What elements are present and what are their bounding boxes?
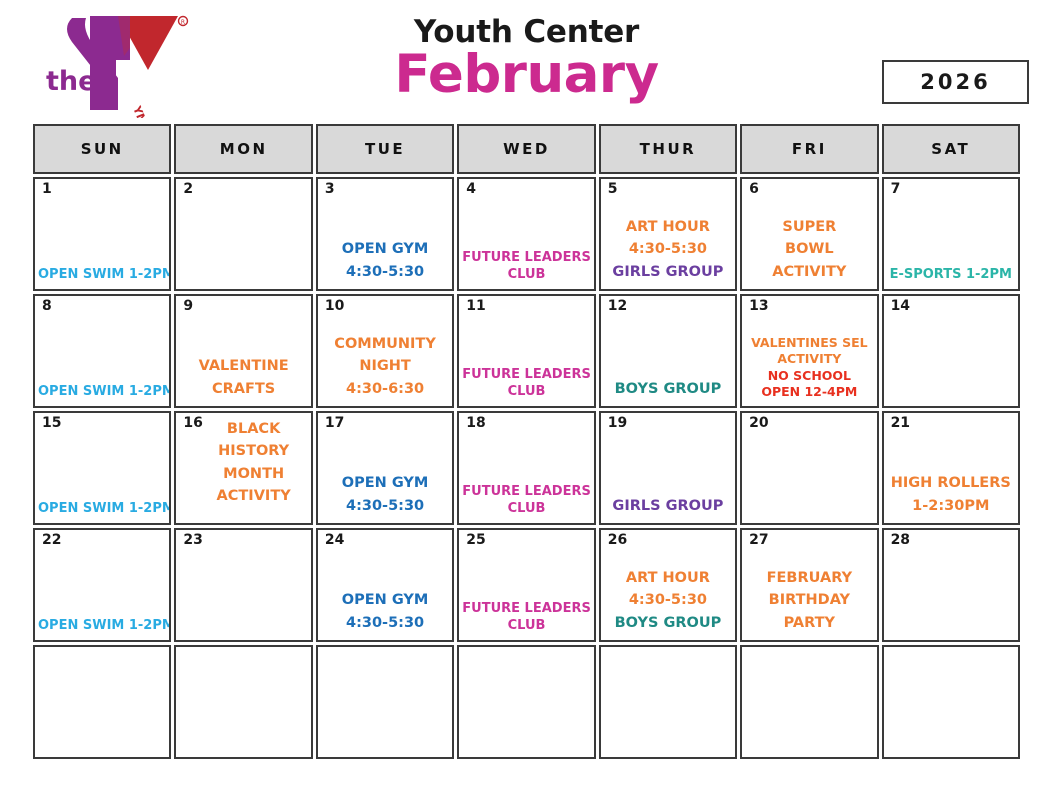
day-number: 20	[749, 416, 768, 431]
event-line[interactable]: OPEN SWIM 1-2PM	[38, 617, 166, 634]
event-line[interactable]: FUTURE LEADERS	[462, 600, 590, 617]
day-cell-14[interactable]: 14	[882, 294, 1020, 408]
event-line[interactable]: BIRTHDAY	[745, 589, 873, 611]
event-line[interactable]: HIGH ROLLERS	[887, 472, 1015, 494]
day-header-sun: SUN	[33, 124, 171, 174]
day-events: OPEN GYM4:30-5:30	[321, 589, 449, 635]
event-line[interactable]: 4:30-5:30	[321, 495, 449, 517]
ymca-logo: R the YMCA	[38, 8, 198, 118]
day-events: OPEN GYM4:30-5:30	[321, 472, 449, 518]
event-line[interactable]: OPEN GYM	[321, 238, 449, 260]
event-line[interactable]: SUPER	[745, 216, 873, 238]
day-cell-1[interactable]: 1OPEN SWIM 1-2PM	[33, 177, 171, 291]
day-header-label: THUR	[640, 140, 697, 158]
event-line[interactable]: VALENTINES SEL	[745, 335, 873, 351]
day-number: 10	[325, 299, 344, 314]
event-line[interactable]: ACTIVITY	[745, 351, 873, 367]
day-cell-20[interactable]: 20	[740, 411, 878, 525]
logo-the-text: the	[46, 66, 96, 97]
day-events: FUTURE LEADERSCLUB	[462, 249, 590, 284]
event-line[interactable]: OPEN SWIM 1-2PM	[38, 266, 166, 283]
day-number: 26	[608, 533, 627, 548]
event-line[interactable]: MONTH	[199, 463, 307, 485]
day-cell-24[interactable]: 24OPEN GYM4:30-5:30	[316, 528, 454, 642]
day-events	[179, 634, 307, 635]
day-number: 11	[466, 299, 485, 314]
day-header-label: WED	[503, 140, 550, 158]
day-number: 6	[749, 182, 759, 197]
ymca-logo-svg: R the YMCA	[38, 8, 198, 118]
calendar-week-row: 15OPEN SWIM 1-2PM16BLACKHISTORYMONTHACTI…	[33, 411, 1020, 525]
day-events: E-SPORTS 1-2PM	[887, 266, 1015, 284]
day-number: 8	[42, 299, 52, 314]
year-box: 2026	[882, 60, 1029, 104]
day-cell-7[interactable]: 7E-SPORTS 1-2PM	[882, 177, 1020, 291]
day-number: 13	[749, 299, 768, 314]
event-line[interactable]: BOWL	[745, 238, 873, 260]
day-cell-25[interactable]: 25FUTURE LEADERSCLUB	[457, 528, 595, 642]
day-cell-23[interactable]: 23	[174, 528, 312, 642]
event-line[interactable]: HISTORY	[199, 440, 307, 462]
event-line[interactable]: CRAFTS	[179, 378, 307, 400]
day-of-week-header-row: SUNMONTUEWEDTHURFRISAT	[33, 124, 1020, 174]
day-cell-13[interactable]: 13VALENTINES SELACTIVITYNO SCHOOLOPEN 12…	[740, 294, 878, 408]
day-header-label: TUE	[365, 140, 405, 158]
day-events	[887, 400, 1015, 401]
calendar-week-row: 8OPEN SWIM 1-2PM9VALENTINECRAFTS10COMMUN…	[33, 294, 1020, 408]
event-line[interactable]: CLUB	[462, 266, 590, 283]
day-cell-19[interactable]: 19GIRLS GROUP	[599, 411, 737, 525]
day-events: OPEN SWIM 1-2PM	[38, 383, 166, 401]
day-cell-5[interactable]: 5ART HOUR4:30-5:30GIRLS GROUP	[599, 177, 737, 291]
event-line[interactable]: FUTURE LEADERS	[462, 366, 590, 383]
event-line[interactable]: COMMUNITY	[321, 333, 449, 355]
day-events: FUTURE LEADERSCLUB	[462, 600, 590, 635]
year-label: 2026	[920, 70, 990, 94]
day-events: ART HOUR4:30-5:30BOYS GROUP	[604, 567, 732, 635]
day-header-label: SAT	[931, 140, 970, 158]
day-cell-18[interactable]: 18FUTURE LEADERSCLUB	[457, 411, 595, 525]
day-cell-22[interactable]: 22OPEN SWIM 1-2PM	[33, 528, 171, 642]
day-cell-6[interactable]: 6SUPERBOWLACTIVITY	[740, 177, 878, 291]
event-line[interactable]: FEBRUARY	[745, 567, 873, 589]
day-number: 7	[891, 182, 901, 197]
day-number: 19	[608, 416, 627, 431]
day-cell-17[interactable]: 17OPEN GYM4:30-5:30	[316, 411, 454, 525]
day-events: VALENTINES SELACTIVITYNO SCHOOLOPEN 12-4…	[745, 335, 873, 401]
day-cell-empty[interactable]	[882, 645, 1020, 759]
day-events: GIRLS GROUP	[604, 495, 732, 518]
event-line[interactable]: FUTURE LEADERS	[462, 249, 590, 266]
day-number: 22	[42, 533, 61, 548]
day-cell-2[interactable]: 2	[174, 177, 312, 291]
day-events: OPEN SWIM 1-2PM	[38, 500, 166, 518]
day-number: 3	[325, 182, 335, 197]
day-cell-empty[interactable]	[316, 645, 454, 759]
calendar-week-row: 1OPEN SWIM 1-2PM23OPEN GYM4:30-5:304FUTU…	[33, 177, 1020, 291]
calendar-week-row: 22OPEN SWIM 1-2PM2324OPEN GYM4:30-5:3025…	[33, 528, 1020, 642]
day-header-label: FRI	[792, 140, 827, 158]
day-number: 4	[466, 182, 476, 197]
event-line[interactable]: NIGHT	[321, 355, 449, 377]
day-number: 14	[891, 299, 910, 314]
day-header-thur: THUR	[599, 124, 737, 174]
day-cell-28[interactable]: 28	[882, 528, 1020, 642]
day-cell-empty[interactable]	[740, 645, 878, 759]
day-cell-empty[interactable]	[33, 645, 171, 759]
day-events	[321, 751, 449, 752]
day-cell-16[interactable]: 16BLACKHISTORYMONTHACTIVITY	[174, 411, 312, 525]
day-events	[462, 751, 590, 752]
event-line[interactable]: 4:30-5:30	[604, 238, 732, 260]
day-events	[887, 634, 1015, 635]
day-number: 23	[183, 533, 202, 548]
calendar-page: R the YMCA Youth Center February 2026 SU…	[0, 0, 1053, 812]
day-number: 18	[466, 416, 485, 431]
day-cell-empty[interactable]	[457, 645, 595, 759]
event-line[interactable]: 4:30-5:30	[604, 589, 732, 611]
day-header-mon: MON	[174, 124, 312, 174]
day-events	[604, 751, 732, 752]
svg-text:R: R	[181, 19, 185, 26]
event-line[interactable]: 4:30-6:30	[321, 378, 449, 400]
day-events	[38, 751, 166, 752]
event-line[interactable]: ART HOUR	[604, 567, 732, 589]
event-line[interactable]: OPEN 12-4PM	[745, 384, 873, 400]
day-number: 24	[325, 533, 344, 548]
event-line[interactable]: CLUB	[462, 500, 590, 517]
event-line[interactable]: BLACK	[199, 418, 307, 440]
day-cell-10[interactable]: 10COMMUNITYNIGHT4:30-6:30	[316, 294, 454, 408]
day-cell-3[interactable]: 3OPEN GYM4:30-5:30	[316, 177, 454, 291]
day-events: OPEN GYM4:30-5:30	[321, 238, 449, 284]
day-cell-27[interactable]: 27FEBRUARYBIRTHDAYPARTY	[740, 528, 878, 642]
day-cell-11[interactable]: 11FUTURE LEADERSCLUB	[457, 294, 595, 408]
event-line[interactable]: PARTY	[745, 612, 873, 634]
event-line[interactable]: VALENTINE	[179, 355, 307, 377]
day-header-wed: WED	[457, 124, 595, 174]
day-cell-15[interactable]: 15OPEN SWIM 1-2PM	[33, 411, 171, 525]
day-number: 21	[891, 416, 910, 431]
day-number: 27	[749, 533, 768, 548]
event-line[interactable]: E-SPORTS 1-2PM	[887, 266, 1015, 283]
day-events: ART HOUR4:30-5:30GIRLS GROUP	[604, 216, 732, 284]
event-line[interactable]: NO SCHOOL	[745, 368, 873, 384]
event-line[interactable]: 1-2:30PM	[887, 495, 1015, 517]
day-cell-12[interactable]: 12BOYS GROUP	[599, 294, 737, 408]
calendar-grid: SUNMONTUEWEDTHURFRISAT 1OPEN SWIM 1-2PM2…	[33, 124, 1020, 762]
event-line[interactable]: GIRLS GROUP	[604, 261, 732, 283]
day-number: 16	[183, 416, 202, 431]
event-line[interactable]: BOYS GROUP	[604, 612, 732, 634]
day-number: 1	[42, 182, 52, 197]
day-cell-21[interactable]: 21HIGH ROLLERS1-2:30PM	[882, 411, 1020, 525]
event-line[interactable]: ACTIVITY	[199, 485, 307, 507]
day-events	[179, 751, 307, 752]
calendar-weeks: 1OPEN SWIM 1-2PM23OPEN GYM4:30-5:304FUTU…	[33, 177, 1020, 759]
day-cell-8[interactable]: 8OPEN SWIM 1-2PM	[33, 294, 171, 408]
day-events	[745, 517, 873, 518]
day-header-label: MON	[220, 140, 268, 158]
day-cell-9[interactable]: 9VALENTINECRAFTS	[174, 294, 312, 408]
day-events	[745, 751, 873, 752]
event-line[interactable]: FUTURE LEADERS	[462, 483, 590, 500]
day-events: FEBRUARYBIRTHDAYPARTY	[745, 567, 873, 635]
event-line[interactable]: 4:30-5:30	[321, 261, 449, 283]
day-events: BOYS GROUP	[604, 378, 732, 401]
page-header: R the YMCA Youth Center February 2026	[0, 0, 1053, 118]
day-number: 17	[325, 416, 344, 431]
event-line[interactable]: OPEN SWIM 1-2PM	[38, 383, 166, 400]
day-number: 9	[183, 299, 193, 314]
day-header-fri: FRI	[740, 124, 878, 174]
day-header-sat: SAT	[882, 124, 1020, 174]
day-events	[887, 751, 1015, 752]
event-line[interactable]: CLUB	[462, 617, 590, 634]
calendar-week-row	[33, 645, 1020, 759]
day-header-label: SUN	[81, 140, 124, 158]
day-cell-empty[interactable]	[174, 645, 312, 759]
day-events	[179, 283, 307, 284]
day-number: 15	[42, 416, 61, 431]
day-events: HIGH ROLLERS1-2:30PM	[887, 472, 1015, 518]
day-events: FUTURE LEADERSCLUB	[462, 366, 590, 401]
event-line[interactable]: OPEN GYM	[321, 589, 449, 611]
day-events: SUPERBOWLACTIVITY	[745, 216, 873, 284]
day-number: 2	[183, 182, 193, 197]
day-events: VALENTINECRAFTS	[179, 355, 307, 401]
event-line[interactable]: ART HOUR	[604, 216, 732, 238]
event-line[interactable]: ACTIVITY	[745, 261, 873, 283]
event-line[interactable]: 4:30-5:30	[321, 612, 449, 634]
event-line[interactable]: CLUB	[462, 383, 590, 400]
day-cell-empty[interactable]	[599, 645, 737, 759]
day-number: 12	[608, 299, 627, 314]
day-events: OPEN SWIM 1-2PM	[38, 617, 166, 635]
day-number: 25	[466, 533, 485, 548]
event-line[interactable]: BOYS GROUP	[604, 378, 732, 400]
day-number: 5	[608, 182, 618, 197]
day-events: OPEN SWIM 1-2PM	[38, 266, 166, 284]
day-events: FUTURE LEADERSCLUB	[462, 483, 590, 518]
day-header-tue: TUE	[316, 124, 454, 174]
day-number: 28	[891, 533, 910, 548]
event-line[interactable]: GIRLS GROUP	[604, 495, 732, 517]
day-cell-4[interactable]: 4FUTURE LEADERSCLUB	[457, 177, 595, 291]
day-cell-26[interactable]: 26ART HOUR4:30-5:30BOYS GROUP	[599, 528, 737, 642]
day-events: COMMUNITYNIGHT4:30-6:30	[321, 333, 449, 401]
event-line[interactable]: OPEN GYM	[321, 472, 449, 494]
event-line[interactable]: OPEN SWIM 1-2PM	[38, 500, 166, 517]
logo-ymca-text: YMCA	[130, 103, 156, 118]
